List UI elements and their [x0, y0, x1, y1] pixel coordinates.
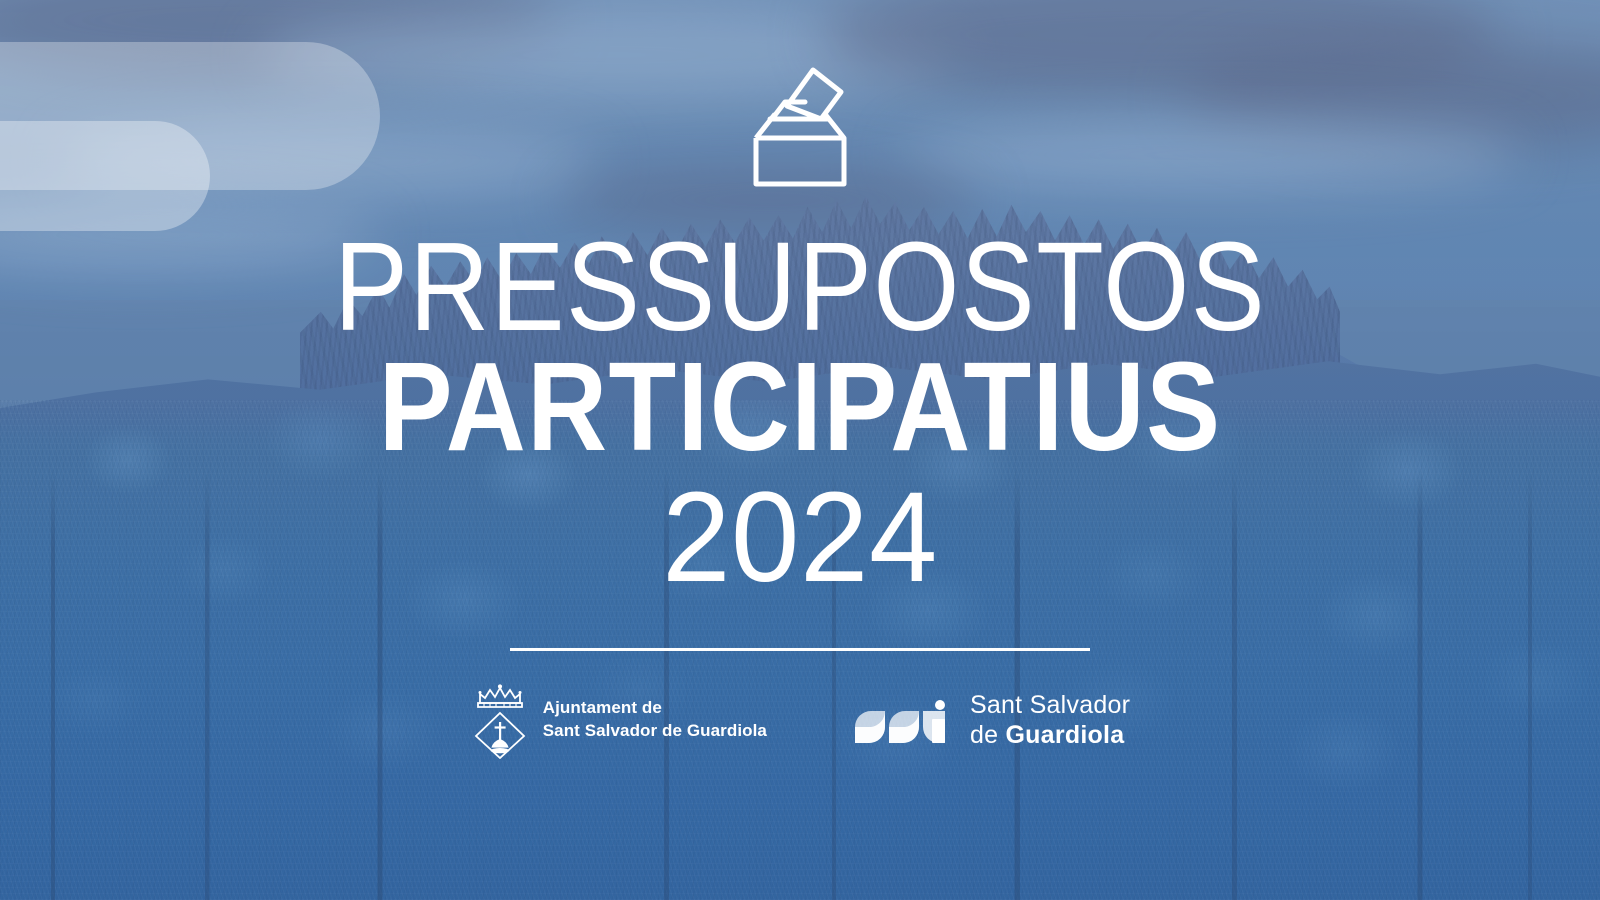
ssg-logo-text: Sant Salvador de Guardiola	[970, 690, 1130, 750]
ajuntament-logo-text: Ajuntament de Sant Salvador de Guardiola	[543, 697, 767, 743]
ajuntament-crest-icon	[470, 681, 530, 759]
ssg-line-2-thin: de	[970, 721, 1006, 749]
ballot-box-icon	[745, 62, 855, 190]
logo-row: Ajuntament de Sant Salvador de Guardiola	[0, 681, 1600, 759]
divider-rule	[510, 648, 1090, 651]
title-line-3: 2024	[32, 474, 1568, 602]
title-line-1: PRESSUPOSTOS	[96, 224, 1504, 350]
ajuntament-logo: Ajuntament de Sant Salvador de Guardiola	[470, 681, 767, 759]
poster-canvas: PRESSUPOSTOS PARTICIPATIUS 2024	[0, 0, 1600, 900]
ajuntament-line-1: Ajuntament de	[543, 697, 767, 720]
ssg-logo: Sant Salvador de Guardiola	[853, 690, 1130, 750]
ssg-line-2-bold: Guardiola	[1005, 721, 1124, 749]
ssg-line-2: de Guardiola	[970, 720, 1130, 750]
ajuntament-line-2: Sant Salvador de Guardiola	[543, 720, 767, 743]
title-line-2: PARTICIPATIUS	[96, 344, 1504, 470]
poster-content: PRESSUPOSTOS PARTICIPATIUS 2024	[0, 0, 1600, 900]
ssg-line-1: Sant Salvador	[970, 690, 1130, 720]
title-block: PRESSUPOSTOS PARTICIPATIUS 2024	[0, 224, 1600, 602]
ssg-monogram-icon	[853, 697, 957, 743]
